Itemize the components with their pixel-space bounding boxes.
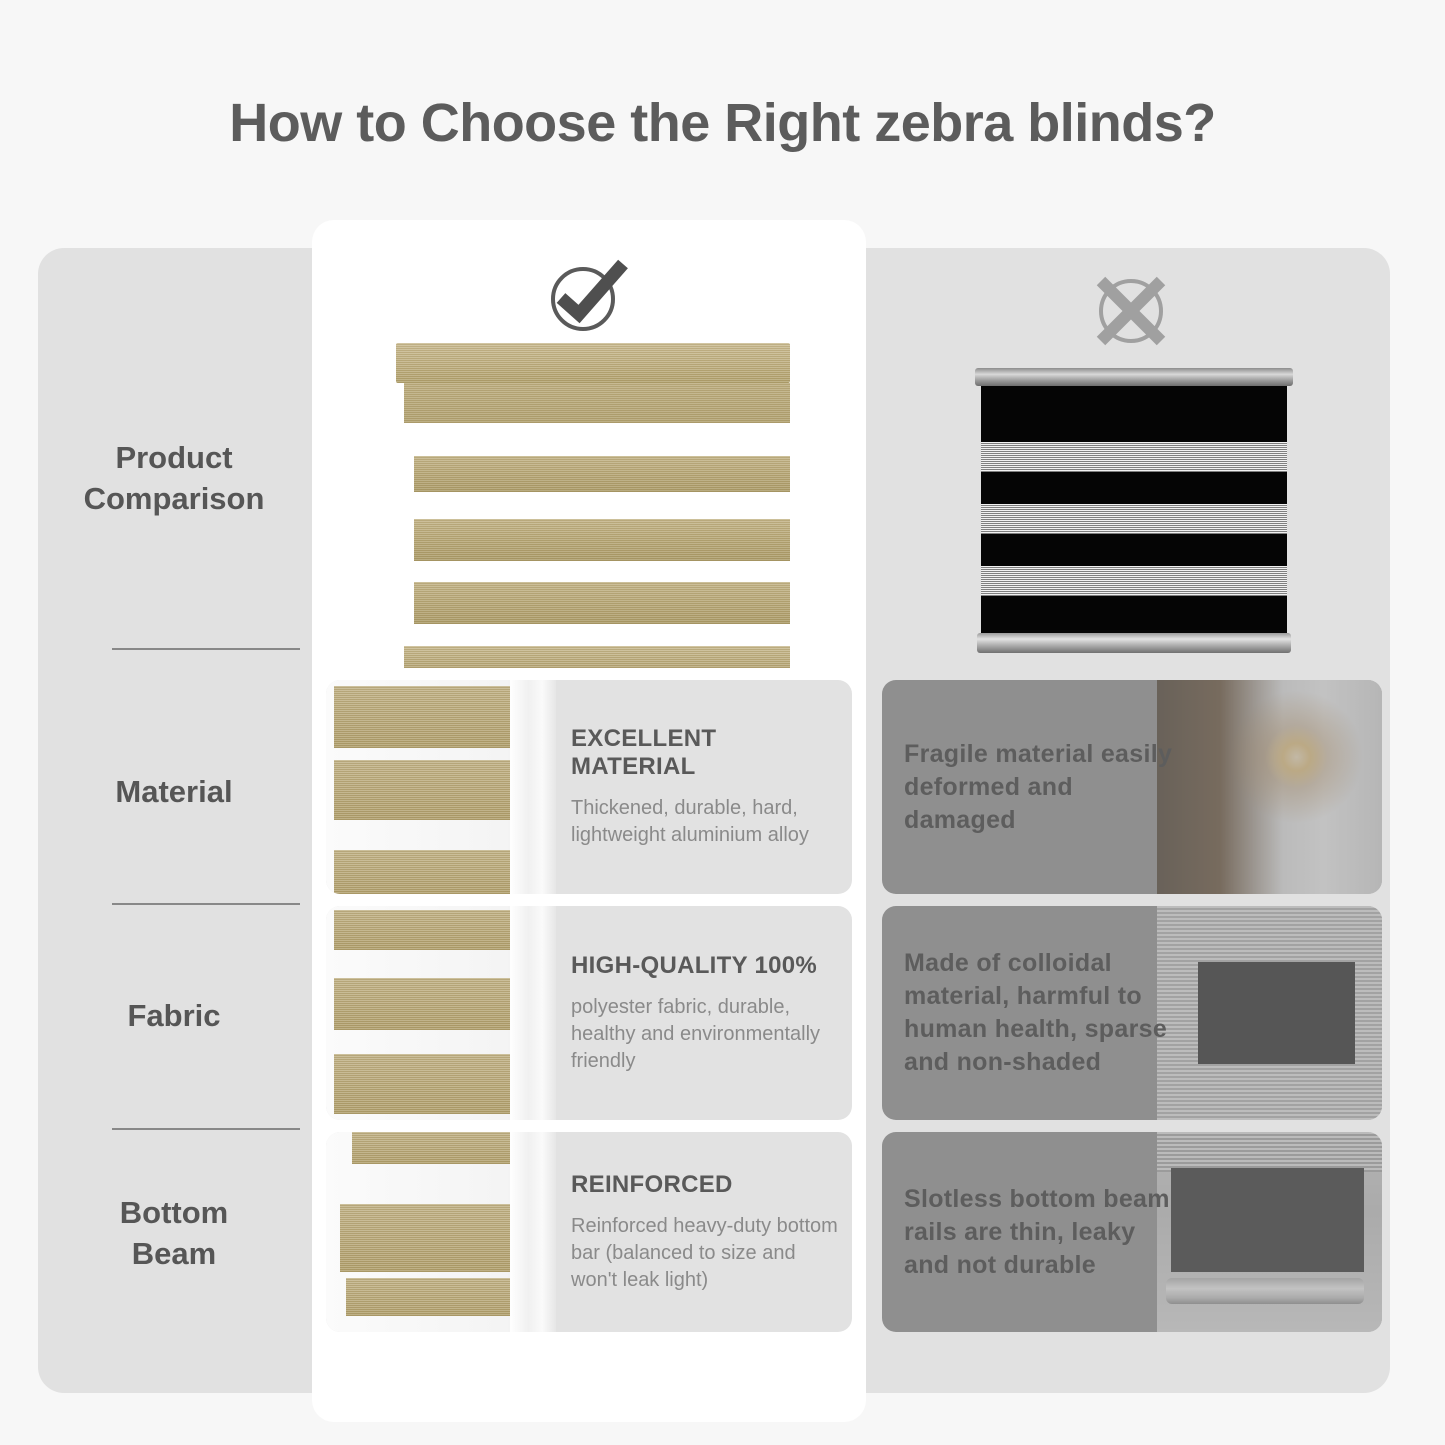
- feature-text: Fragile material easily deformed and dam…: [904, 680, 1174, 894]
- feature-body: polyester fabric, durable, healthy and e…: [571, 994, 841, 1075]
- page-title: How to Choose the Right zebra blinds?: [0, 92, 1445, 154]
- good-feature-card-fabric[interactable]: HIGH-QUALITY 100% polyester fabric, dura…: [326, 906, 852, 1120]
- row-label-column: Product Comparison Material Fabric Botto…: [38, 248, 310, 1393]
- row-label-line1: Bottom: [38, 1193, 310, 1234]
- blind-slat: [334, 686, 512, 748]
- blind-slat: [334, 1054, 512, 1114]
- damaged-window-photo: [1157, 680, 1382, 894]
- sparse-fabric-photo: [1157, 906, 1382, 1120]
- good-product-image: [396, 343, 790, 668]
- headrail: [396, 343, 790, 383]
- bad-feature-card-bottom-beam[interactable]: Slotless bottom beam rails are thin, lea…: [882, 1132, 1382, 1332]
- photo-overlay: [1157, 906, 1382, 1120]
- sheer-band: [981, 442, 1287, 472]
- feature-heading: EXCELLENT MATERIAL: [571, 725, 841, 781]
- headrail-under: [404, 383, 790, 423]
- good-feature-card-bottom-beam[interactable]: REINFORCED Reinforced heavy-duty bottom …: [326, 1132, 852, 1332]
- feature-heading: Fragile material easily deformed and dam…: [904, 738, 1174, 837]
- check-circle-icon: [545, 252, 631, 338]
- blind-slat: [334, 910, 512, 950]
- feature-body: Reinforced heavy-duty bottom bar (balanc…: [571, 1213, 841, 1294]
- thin-bottom-rail-photo: [1157, 1132, 1382, 1332]
- sheer-band: [981, 566, 1287, 596]
- bottom-rail: [977, 633, 1291, 653]
- photo-overlay: [1157, 680, 1382, 894]
- row-label-material: Material: [38, 772, 310, 813]
- row-divider-3: [112, 1128, 300, 1130]
- feature-text: Slotless bottom beam rails are thin, lea…: [904, 1132, 1174, 1332]
- row-label-fabric: Fabric: [38, 996, 310, 1037]
- row-label-product-comparison: Product Comparison: [38, 438, 310, 520]
- row-label-line2: Comparison: [38, 479, 310, 520]
- row-label-line1: Material: [38, 772, 310, 813]
- blind-slat: [352, 1132, 512, 1164]
- blind-slat: [334, 850, 512, 894]
- row-divider-2: [112, 903, 300, 905]
- bottom-bar: [404, 646, 790, 668]
- blind-band: [414, 456, 790, 492]
- photo-overlay: [1157, 1132, 1382, 1332]
- top-rail: [975, 368, 1293, 386]
- blind-band: [414, 519, 790, 561]
- sheer-band: [981, 504, 1287, 534]
- window-frame: [510, 680, 556, 894]
- bad-product-image: [975, 368, 1293, 653]
- bad-feature-card-fabric[interactable]: Made of colloidal material, harmful to h…: [882, 906, 1382, 1120]
- blind-slat: [334, 760, 512, 820]
- feature-text: EXCELLENT MATERIAL Thickened, durable, h…: [571, 680, 841, 894]
- window-frame: [510, 1132, 556, 1332]
- feature-body: Thickened, durable, hard, lightweight al…: [571, 795, 841, 849]
- bad-feature-card-material[interactable]: Fragile material easily deformed and dam…: [882, 680, 1382, 894]
- feature-heading: Made of colloidal material, harmful to h…: [904, 947, 1174, 1079]
- cross-circle-icon: [1088, 268, 1174, 354]
- tan-bottom-bar-photo: [326, 1132, 556, 1332]
- tan-blind-fabric-photo: [326, 906, 556, 1120]
- feature-heading: Slotless bottom beam rails are thin, lea…: [904, 1183, 1174, 1282]
- blind-slat: [340, 1204, 512, 1272]
- window-frame: [510, 906, 556, 1120]
- blind-fabric: [981, 386, 1287, 633]
- good-feature-card-material[interactable]: EXCELLENT MATERIAL Thickened, durable, h…: [326, 680, 852, 894]
- row-label-line1: Product: [38, 438, 310, 479]
- tan-blind-closeup-photo: [326, 680, 556, 894]
- blind-band: [414, 582, 790, 624]
- row-label-bottom-beam: Bottom Beam: [38, 1193, 310, 1275]
- row-divider-1: [112, 648, 300, 650]
- feature-text: Made of colloidal material, harmful to h…: [904, 906, 1174, 1120]
- bottom-bar: [346, 1278, 512, 1316]
- feature-heading: HIGH-QUALITY 100%: [571, 952, 841, 980]
- feature-text: HIGH-QUALITY 100% polyester fabric, dura…: [571, 906, 841, 1120]
- row-label-line2: Beam: [38, 1234, 310, 1275]
- row-label-line1: Fabric: [38, 996, 310, 1037]
- blind-slat: [334, 978, 512, 1030]
- feature-text: REINFORCED Reinforced heavy-duty bottom …: [571, 1132, 841, 1332]
- feature-heading: REINFORCED: [571, 1171, 841, 1199]
